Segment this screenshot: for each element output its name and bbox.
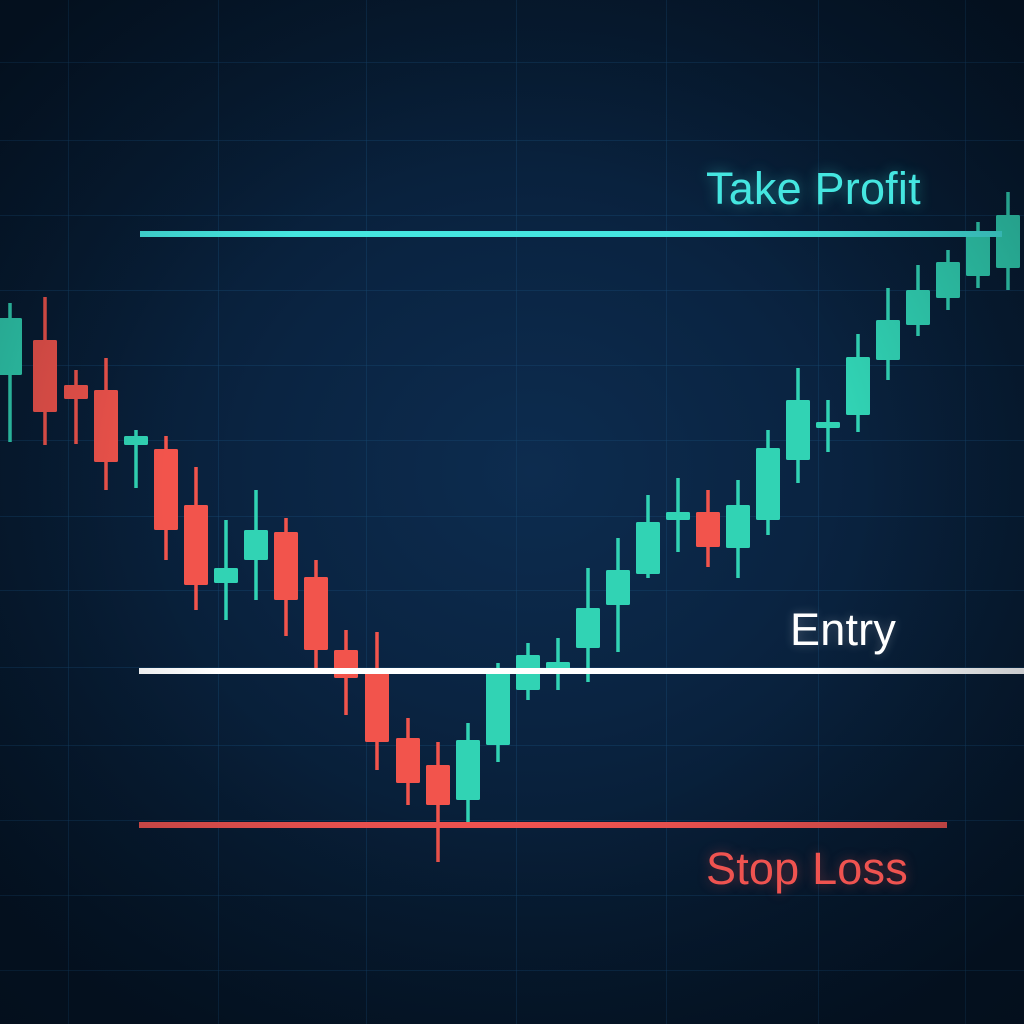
candlestick — [426, 742, 450, 862]
take-profit-label: Take Profit — [706, 166, 921, 211]
candle-body-bearish — [94, 390, 118, 462]
candlestick — [846, 334, 870, 432]
candle-body-bullish — [576, 608, 600, 648]
candle-body-bullish — [636, 522, 660, 574]
candlestick — [214, 520, 238, 620]
candlestick — [33, 297, 57, 445]
candlestick — [396, 718, 420, 805]
candlestick — [576, 568, 600, 682]
candle-body-bullish — [906, 290, 930, 325]
candle-body-bearish — [426, 765, 450, 805]
candle-body-bearish — [64, 385, 88, 399]
candlestick — [244, 490, 268, 600]
candle-body-bullish — [214, 568, 238, 583]
candlestick — [816, 400, 840, 452]
candle-body-bullish — [0, 318, 22, 375]
candle-body-bearish — [274, 532, 298, 600]
candle-body-bullish — [456, 740, 480, 800]
candle-body-bullish — [244, 530, 268, 560]
candle-body-bullish — [486, 672, 510, 745]
candlestick — [274, 518, 298, 636]
candlestick — [786, 368, 810, 483]
candlestick — [756, 430, 780, 535]
candlestick — [546, 638, 570, 690]
candlestick — [726, 480, 750, 578]
candle-body-bullish — [786, 400, 810, 460]
candle-body-bullish — [936, 262, 960, 298]
candlestick — [876, 288, 900, 380]
candle-body-bullish — [756, 448, 780, 520]
candle-body-bullish — [966, 236, 990, 276]
candle-body-bearish — [184, 505, 208, 585]
candlestick — [696, 490, 720, 567]
candle-body-bullish — [876, 320, 900, 360]
candlestick-chart: Take Profit Entry Stop Loss — [0, 0, 1024, 1024]
candlestick — [486, 663, 510, 762]
candlestick — [304, 560, 328, 668]
candlestick — [124, 430, 148, 488]
candle-body-bearish — [304, 577, 328, 650]
candle-body-bearish — [154, 449, 178, 530]
entry-label: Entry — [790, 607, 896, 652]
candlestick — [936, 250, 960, 310]
candle-body-bearish — [33, 340, 57, 412]
candle-body-bullish — [726, 505, 750, 548]
candle-body-bearish — [396, 738, 420, 783]
stop-loss-label: Stop Loss — [706, 846, 908, 891]
candlestick — [636, 495, 660, 578]
candlestick — [0, 303, 22, 442]
candlestick — [154, 436, 178, 560]
candle-body-bullish — [996, 215, 1020, 268]
candle-body-bullish — [606, 570, 630, 605]
candlestick — [666, 478, 690, 552]
candlestick — [456, 723, 480, 826]
candle-body-bearish — [365, 670, 389, 742]
candlestick — [906, 265, 930, 336]
candlestick — [365, 632, 389, 770]
candlestick — [996, 192, 1020, 290]
candle-body-bullish — [846, 357, 870, 415]
candlestick — [606, 538, 630, 652]
candle-body-bullish — [816, 422, 840, 428]
candle-body-bullish — [666, 512, 690, 520]
candlestick — [94, 358, 118, 490]
candle-body-bullish — [124, 436, 148, 445]
candle-body-bearish — [696, 512, 720, 547]
candlestick — [184, 467, 208, 610]
candlestick — [64, 370, 88, 444]
